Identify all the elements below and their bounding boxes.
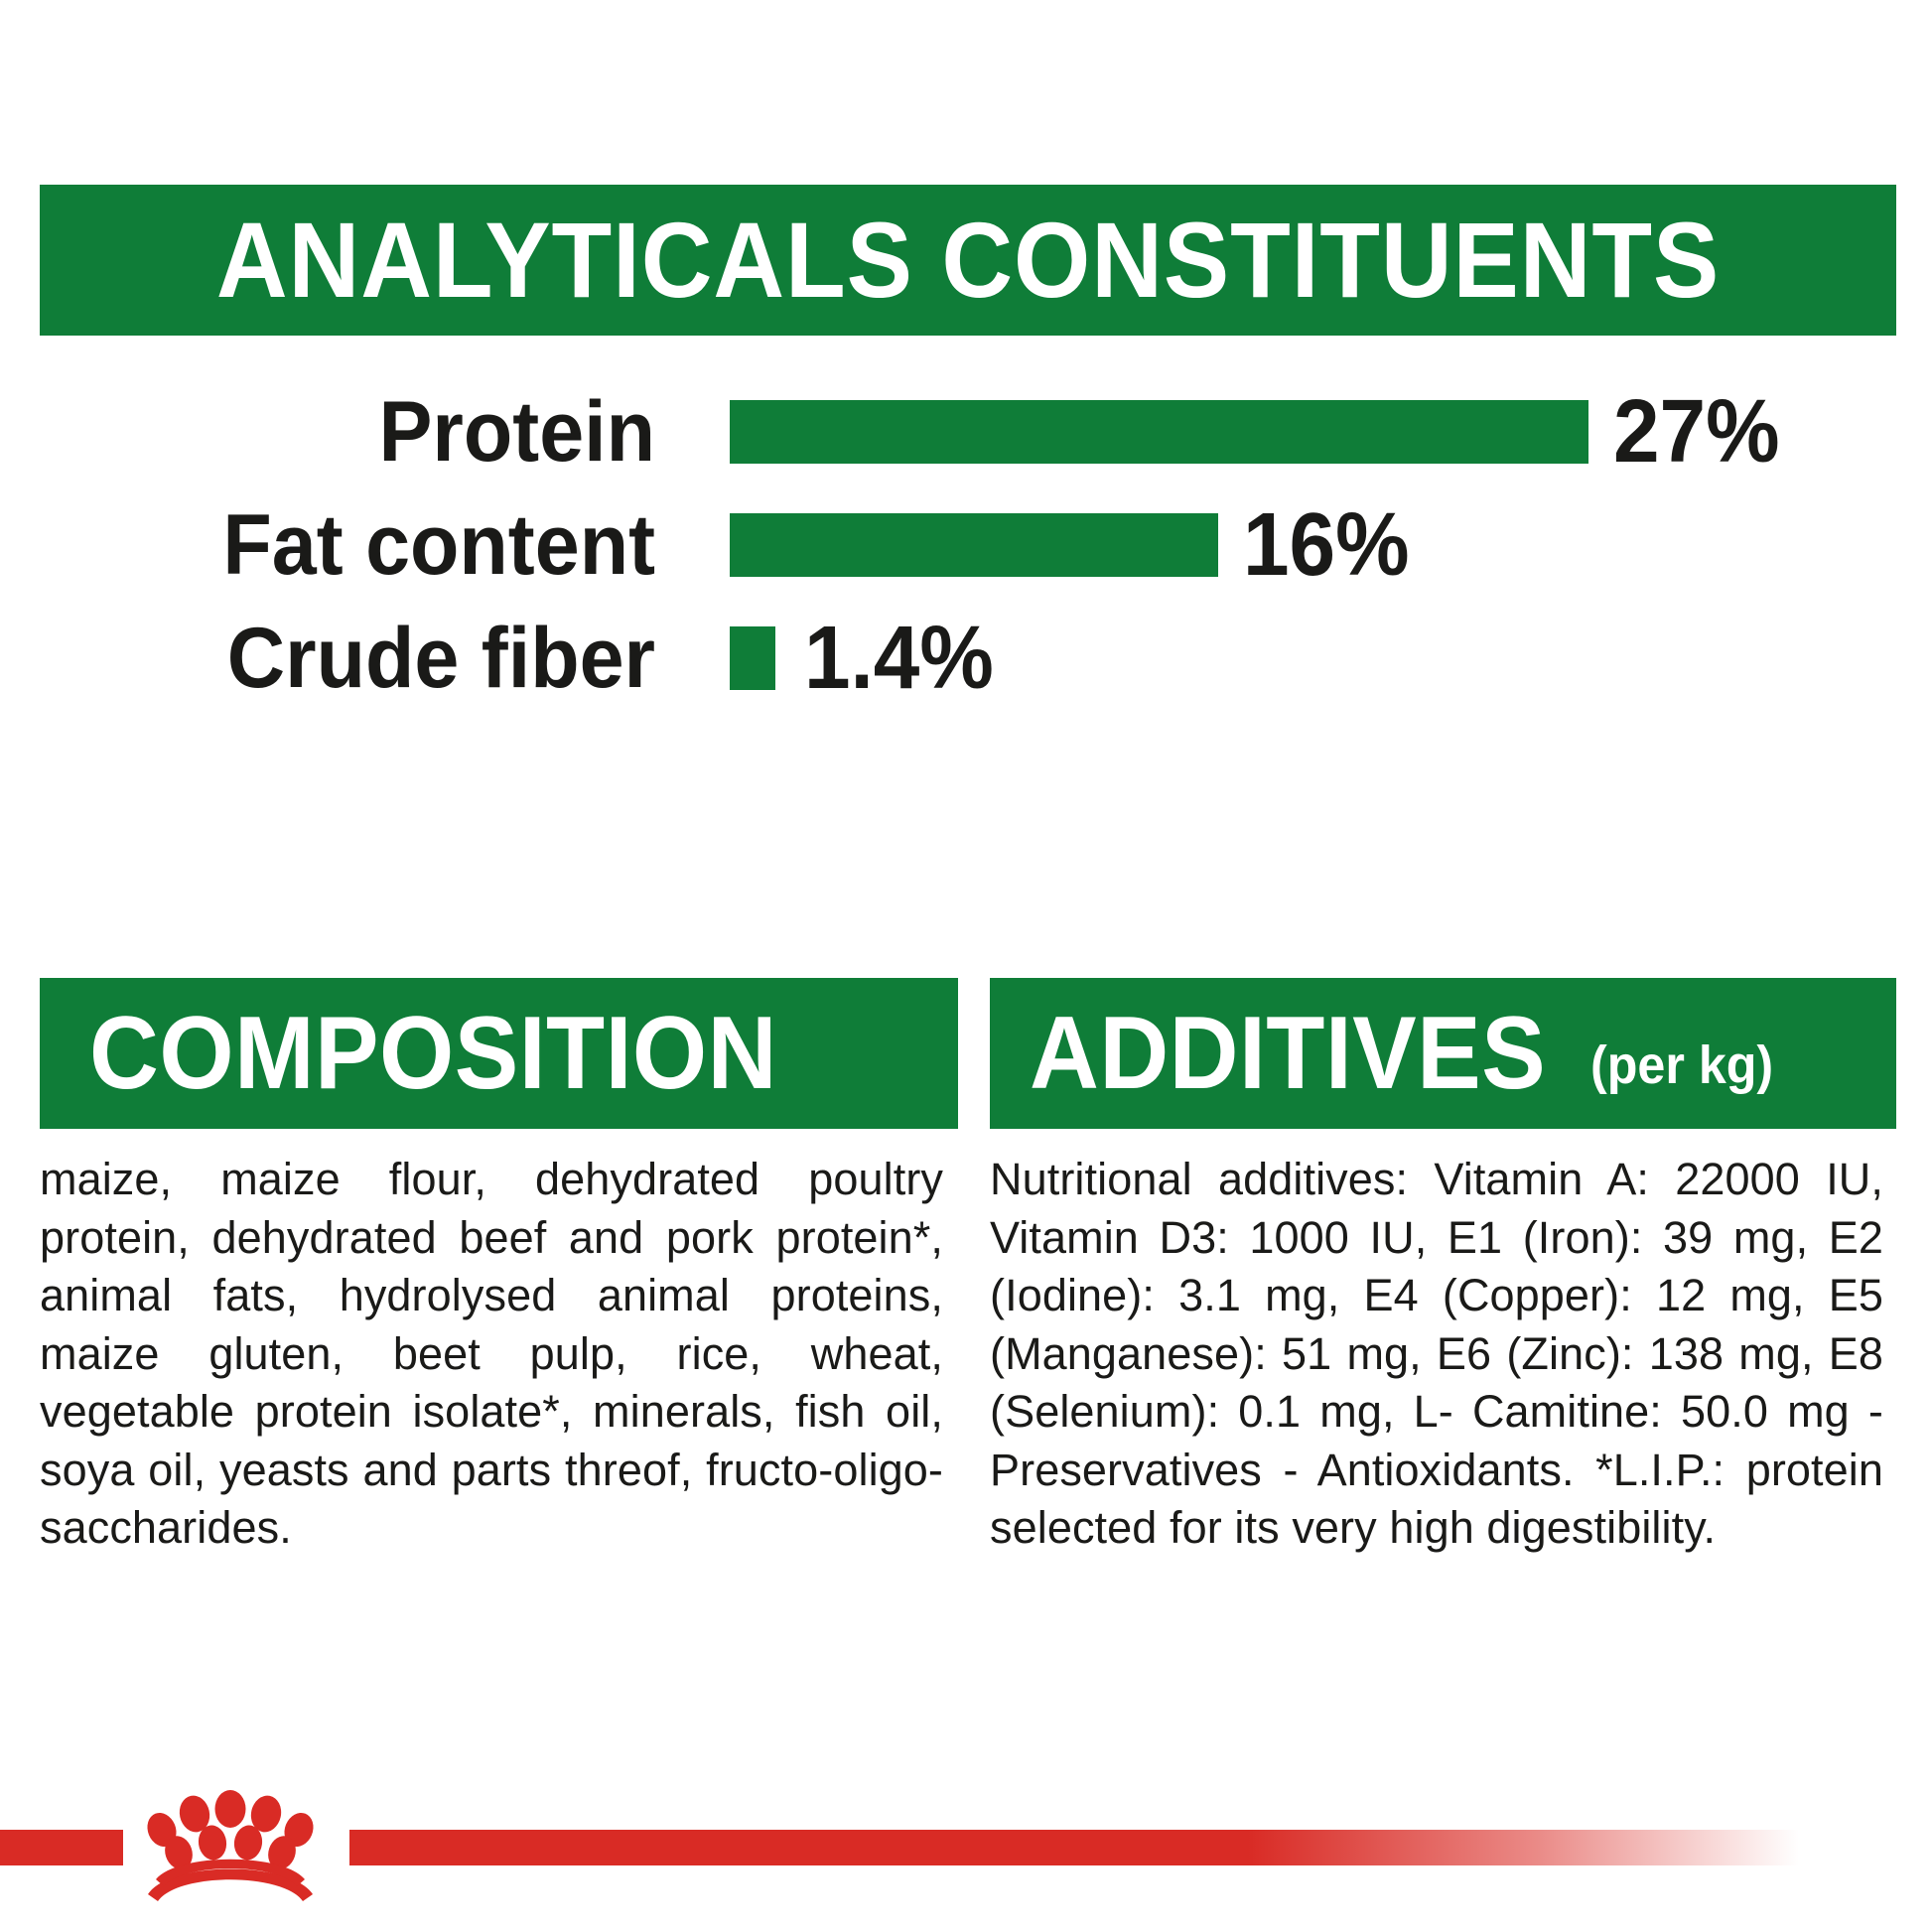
chart-row: Fat content 16% (0, 497, 1932, 593)
analyticals-bar-chart: Protein 27% Fat content 16% Crude fiber … (0, 382, 1932, 710)
analyticals-constituents-header: ANALYTICALS CONSTITUENTS (40, 185, 1896, 336)
bar-value-fat-content: 16% (1243, 497, 1410, 593)
composition-title: COMPOSITION (89, 1002, 777, 1105)
footer (0, 1787, 1932, 1932)
additives-header: ADDITIVES (per kg) (990, 978, 1896, 1129)
footer-rule-left (0, 1830, 123, 1865)
bar-crude-fiber (730, 626, 775, 690)
bar-value-protein: 27% (1613, 384, 1780, 480)
bar-label-fat-content: Fat content (95, 497, 655, 593)
bar-protein (730, 400, 1588, 464)
bar-value-crude-fiber: 1.4% (804, 611, 994, 706)
bar-label-crude-fiber: Crude fiber (95, 611, 655, 706)
composition-header: COMPOSITION (40, 978, 958, 1129)
additives-panel: ADDITIVES (per kg) Nutritional additives… (990, 978, 1896, 1558)
additives-title-suffix: (per kg) (1590, 1038, 1773, 1092)
footer-rule-right (349, 1830, 1799, 1865)
additives-body-text: Nutritional additives: Vitamin A: 22000 … (990, 1129, 1883, 1558)
composition-panel: COMPOSITION maize, maize flour, dehydrat… (40, 978, 958, 1558)
bar-label-protein: Protein (95, 384, 655, 480)
chart-row: Protein 27% (0, 384, 1932, 480)
analyticals-constituents-title: ANALYTICALS CONSTITUENTS (216, 207, 1720, 314)
chart-row: Crude fiber 1.4% (0, 611, 1932, 706)
royal-canin-crown-icon (136, 1787, 325, 1904)
composition-body-text: maize, maize flour, dehydrated poultry p… (40, 1129, 943, 1558)
bar-fat-content (730, 513, 1218, 577)
additives-title: ADDITIVES (1030, 1002, 1546, 1105)
